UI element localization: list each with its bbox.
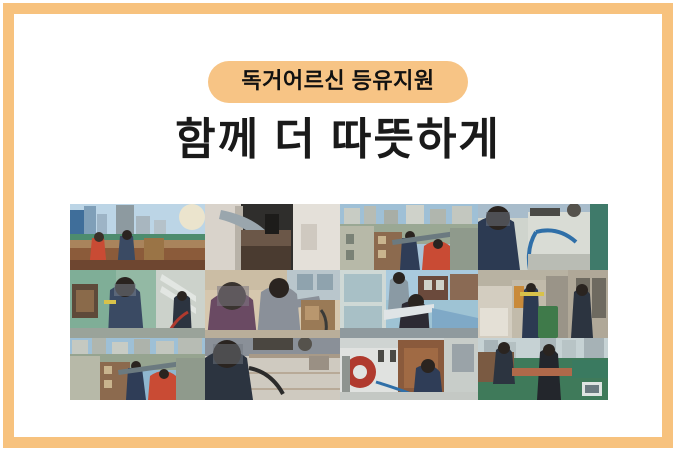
collage-photo-5 — [70, 270, 205, 338]
collage-photo-10 — [205, 338, 340, 400]
collage-photo-12 — [478, 338, 608, 400]
photo-collage — [70, 204, 608, 400]
program-badge: 독거어르신 등유지원 — [208, 61, 468, 103]
collage-photo-3 — [340, 204, 478, 270]
collage-photo-2 — [205, 204, 340, 270]
collage-photo-7 — [340, 270, 478, 338]
collage-photo-11 — [340, 338, 478, 400]
collage-photo-4 — [478, 204, 608, 270]
poster-canvas: 독거어르신 등유지원 함께 더 따뜻하게 — [0, 0, 676, 451]
collage-photo-8 — [478, 270, 608, 338]
page-title: 함께 더 따뜻하게 — [0, 112, 676, 167]
collage-photo-1 — [70, 204, 205, 270]
badge-row: 독거어르신 등유지원 — [0, 61, 676, 103]
collage-photo-9 — [70, 338, 205, 400]
collage-photo-6 — [205, 270, 340, 338]
